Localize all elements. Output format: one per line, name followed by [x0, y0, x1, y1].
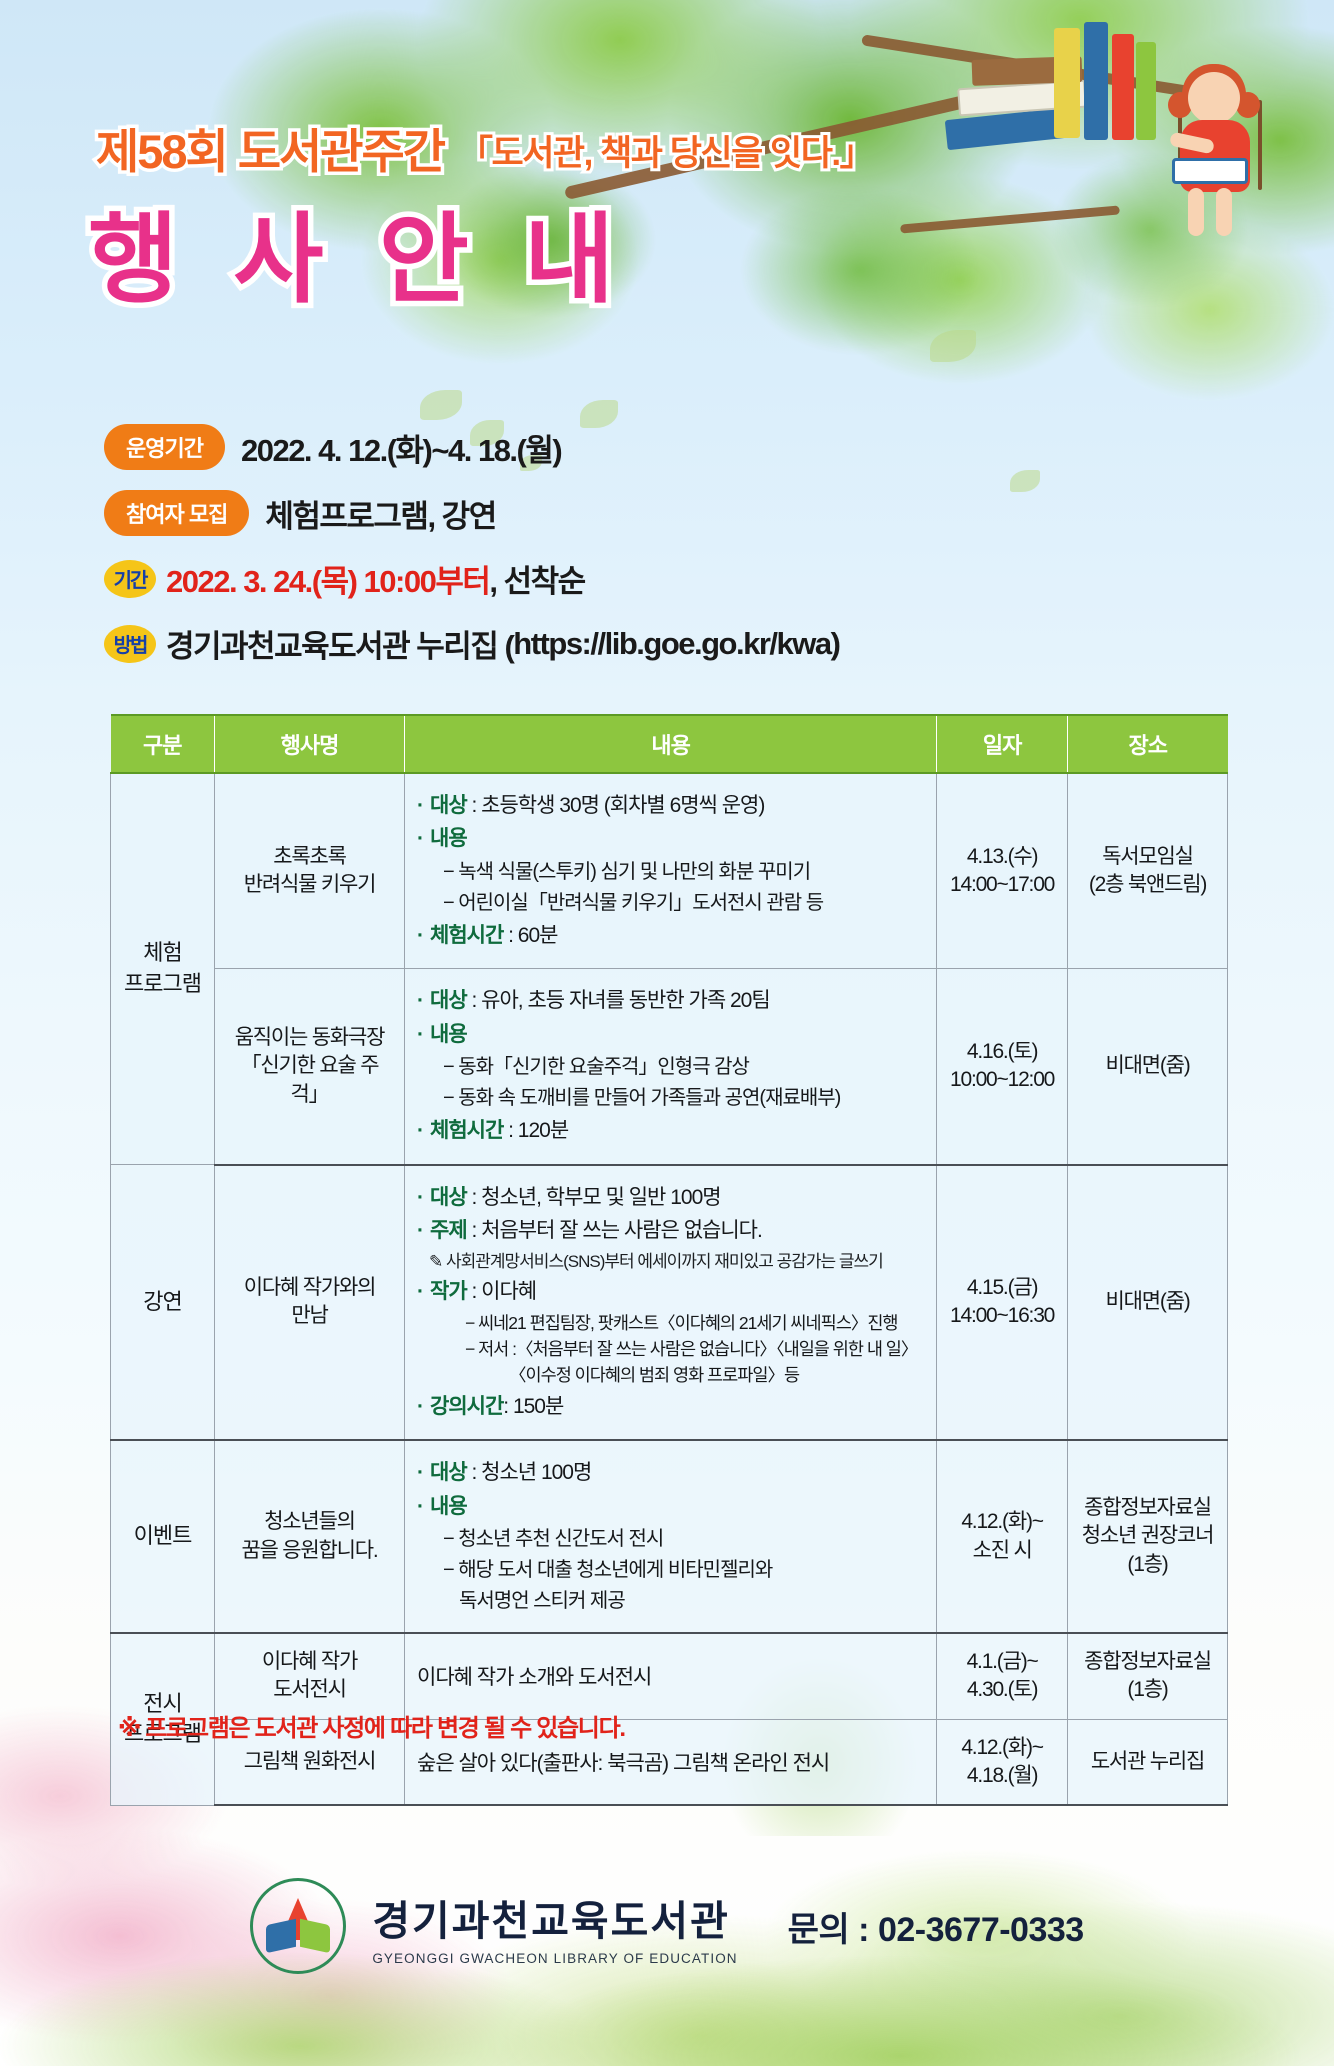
author-detail-line: − 저서 :〈처음부터 잘 쓰는 사람은 없습니다〉〈내일을 위한 내 일〉: [465, 1337, 924, 1362]
label-target: 대상: [430, 989, 467, 1012]
cell-place: 도서관 누리집: [1068, 1719, 1228, 1805]
info-pill-recruitment: 참여자 모집: [104, 490, 249, 536]
cell-place: 종합정보자료실 (1층): [1068, 1633, 1228, 1719]
cell-date: 4.12.(화)~ 4.18.(월): [937, 1719, 1068, 1805]
value-duration: 120분: [518, 1119, 568, 1142]
table-footnote: ※ 프로그램은 도서관 사정에 따라 변경 될 수 있습니다.: [118, 1708, 625, 1743]
label-duration: 체험시간: [430, 1119, 503, 1142]
cell-date: 4.1.(금)~ 4.30.(토): [937, 1633, 1068, 1719]
label-target: 대상: [430, 794, 467, 817]
table-row: 강연 이다혜 작가와의 만남 ·대상 : 청소년, 학부모 및 일반 100명 …: [111, 1165, 1228, 1441]
column-header-content: 내용: [405, 715, 937, 773]
info-value-operating-period: 2022. 4. 12.(화)~4. 18.(월): [241, 425, 561, 470]
value-duration: 60분: [518, 924, 558, 947]
cell-category: 강연: [111, 1165, 215, 1441]
value-duration: 150분: [513, 1395, 563, 1418]
value-target: 유아, 초등 자녀를 동반한 가족 20팀: [481, 989, 770, 1012]
label-author: 작가: [430, 1280, 467, 1303]
cell-content: ·대상 : 유아, 초등 자녀를 동반한 가족 20팀 ·내용 − 동화「신기한…: [405, 969, 937, 1165]
label-duration: 강의시간: [430, 1395, 503, 1418]
info-row-period: 운영기간 2022. 4. 12.(화)~4. 18.(월): [104, 424, 1224, 470]
author-detail-line: 〈이수정 이다혜의 범죄 영화 프로파일〉등: [509, 1363, 924, 1388]
value-topic: 처음부터 잘 쓰는 사람은 없습니다.: [481, 1219, 762, 1242]
detail-line: − 해당 도서 대출 청소년에게 비타민젤리와: [443, 1556, 924, 1585]
program-table-wrapper: 구분 행사명 내용 일자 장소 체험 프로그램 초록초록 반려식물 키우기 ·대…: [110, 714, 1228, 1806]
cell-content: ·대상 : 청소년, 학부모 및 일반 100명 ·주제 : 처음부터 잘 쓰는…: [405, 1165, 937, 1441]
label-detail: 내용: [430, 824, 467, 854]
cell-content: ·대상 : 청소년 100명 ·내용 − 청소년 추천 신간도서 전시 − 해당…: [405, 1440, 937, 1633]
detail-line: − 동화 속 도깨비를 만들어 가족들과 공연(재료배부): [443, 1084, 924, 1113]
info-value-method: 경기과천교육도서관 누리집 (: [166, 621, 513, 666]
cell-place: 종합정보자료실 청소년 권장코너 (1층): [1068, 1440, 1228, 1633]
column-header-category: 구분: [111, 715, 215, 773]
cell-event-name: 초록초록 반려식물 키우기: [215, 773, 405, 969]
cell-event-name: 청소년들의 꿈을 응원합니다.: [215, 1440, 405, 1633]
poster-title-row: 제58회 도서관주간 「도서관, 책과 당신을 잇다.」: [96, 128, 873, 175]
detail-line: 독서명언 스티커 제공: [459, 1587, 924, 1616]
library-website-link[interactable]: https://lib.goe.go.kr/kwa: [513, 626, 830, 662]
column-header-place: 장소: [1068, 715, 1228, 773]
cell-content: 이다혜 작가 소개와 도서전시: [405, 1633, 937, 1719]
info-row-recruitment: 참여자 모집 체험프로그램, 강연: [104, 490, 1224, 536]
cell-place: 비대면(줌): [1068, 969, 1228, 1165]
detail-line: − 녹색 식물(스투키) 심기 및 나만의 화분 꾸미기: [443, 858, 924, 887]
table-row: 전시 프로그램 이다혜 작가 도서전시 이다혜 작가 소개와 도서전시 4.1.…: [111, 1633, 1228, 1719]
label-duration: 체험시간: [430, 924, 503, 947]
table-row: 체험 프로그램 초록초록 반려식물 키우기 ·대상 : 초등학생 30명 (회차…: [111, 773, 1228, 969]
info-value-method-close: ): [831, 626, 840, 662]
detail-line: − 동화「신기한 요술주걱」인형극 감상: [443, 1053, 924, 1082]
detail-line: − 청소년 추천 신간도서 전시: [443, 1525, 924, 1554]
value-target: 초등학생 30명 (회차별 6명씩 운영): [481, 794, 764, 817]
column-header-date: 일자: [937, 715, 1068, 773]
table-row: 움직이는 동화극장 「신기한 요술 주걱」 ·대상 : 유아, 초등 자녀를 동…: [111, 969, 1228, 1165]
detail-line: − 어린이실「반려식물 키우기」도서전시 관람 등: [443, 889, 924, 918]
poster-title-main: 제58회 도서관주간: [96, 128, 444, 175]
library-name-kr: 경기과천교육도서관: [372, 1887, 737, 1947]
cell-date: 4.15.(금) 14:00~16:30: [937, 1165, 1068, 1441]
info-pill-method: 방법: [104, 625, 156, 663]
cell-category: 이벤트: [111, 1440, 215, 1633]
cell-event-name: 이다혜 작가와의 만남: [215, 1165, 405, 1441]
label-target: 대상: [430, 1186, 467, 1209]
library-logo-icon: [250, 1878, 346, 1974]
cell-date: 4.12.(화)~ 소진 시: [937, 1440, 1068, 1633]
label-detail: 내용: [430, 1020, 467, 1050]
cell-place: 독서모임실 (2층 북앤드림): [1068, 773, 1228, 969]
author-detail-line: − 씨네21 편집팀장, 팟캐스트〈이다혜의 21세기 씨네픽스〉진행: [465, 1311, 924, 1336]
label-topic: 주제: [430, 1219, 467, 1242]
table-header-row: 구분 행사명 내용 일자 장소: [111, 715, 1228, 773]
cell-event-name: 이다혜 작가 도서전시: [215, 1633, 405, 1719]
cell-content: ·대상 : 초등학생 30명 (회차별 6명씩 운영) ·내용 − 녹색 식물(…: [405, 773, 937, 969]
program-table: 구분 행사명 내용 일자 장소 체험 프로그램 초록초록 반려식물 키우기 ·대…: [110, 714, 1228, 1806]
topic-note: ✎ 사회관계망서비스(SNS)부터 에세이까지 재미있고 공감가는 글쓰기: [429, 1250, 924, 1275]
poster-headline: 행 사 안 내: [88, 210, 628, 308]
info-value-recruitment: 체험프로그램, 강연: [265, 491, 495, 536]
cell-date: 4.13.(수) 14:00~17:00: [937, 773, 1068, 969]
poster-title-quote: 「도서관, 책과 당신을 잇다.」: [458, 136, 873, 175]
value-target: 청소년, 학부모 및 일반 100명: [481, 1186, 720, 1209]
contact-phone: 문의 : 02-3677-0333: [788, 1902, 1084, 1951]
column-header-event-name: 행사명: [215, 715, 405, 773]
library-logo-text: 경기과천교육도서관 GYEONGGI GWACHEON LIBRARY OF E…: [372, 1887, 737, 1966]
table-body: 체험 프로그램 초록초록 반려식물 키우기 ·대상 : 초등학생 30명 (회차…: [111, 773, 1228, 1805]
label-target: 대상: [430, 1461, 467, 1484]
info-pill-operating-period: 운영기간: [104, 424, 225, 470]
info-row-method: 방법 경기과천교육도서관 누리집 ( https://lib.goe.go.kr…: [104, 621, 1224, 666]
cell-date: 4.16.(토) 10:00~12:00: [937, 969, 1068, 1165]
cell-place: 비대면(줌): [1068, 1165, 1228, 1441]
table-row: 이벤트 청소년들의 꿈을 응원합니다. ·대상 : 청소년 100명 ·내용 −…: [111, 1440, 1228, 1633]
library-name-en: GYEONGGI GWACHEON LIBRARY OF EDUCATION: [372, 1951, 737, 1966]
info-pill-signup-period: 기간: [104, 560, 156, 598]
table-head: 구분 행사명 내용 일자 장소: [111, 715, 1228, 773]
cell-category: 체험 프로그램: [111, 773, 215, 1165]
info-block: 운영기간 2022. 4. 12.(화)~4. 18.(월) 참여자 모집 체험…: [104, 424, 1224, 686]
info-value-signup-order: , 선착순: [489, 556, 584, 601]
poster-footer: 경기과천교육도서관 GYEONGGI GWACHEON LIBRARY OF E…: [0, 1878, 1334, 1974]
info-value-signup-period: 2022. 3. 24.(목) 10:00부터: [166, 556, 489, 601]
cell-event-name: 움직이는 동화극장 「신기한 요술 주걱」: [215, 969, 405, 1165]
label-detail: 내용: [430, 1492, 467, 1522]
value-target: 청소년 100명: [481, 1461, 591, 1484]
value-author: 이다혜: [481, 1280, 536, 1303]
info-row-signup-period: 기간 2022. 3. 24.(목) 10:00부터 , 선착순: [104, 556, 1224, 601]
